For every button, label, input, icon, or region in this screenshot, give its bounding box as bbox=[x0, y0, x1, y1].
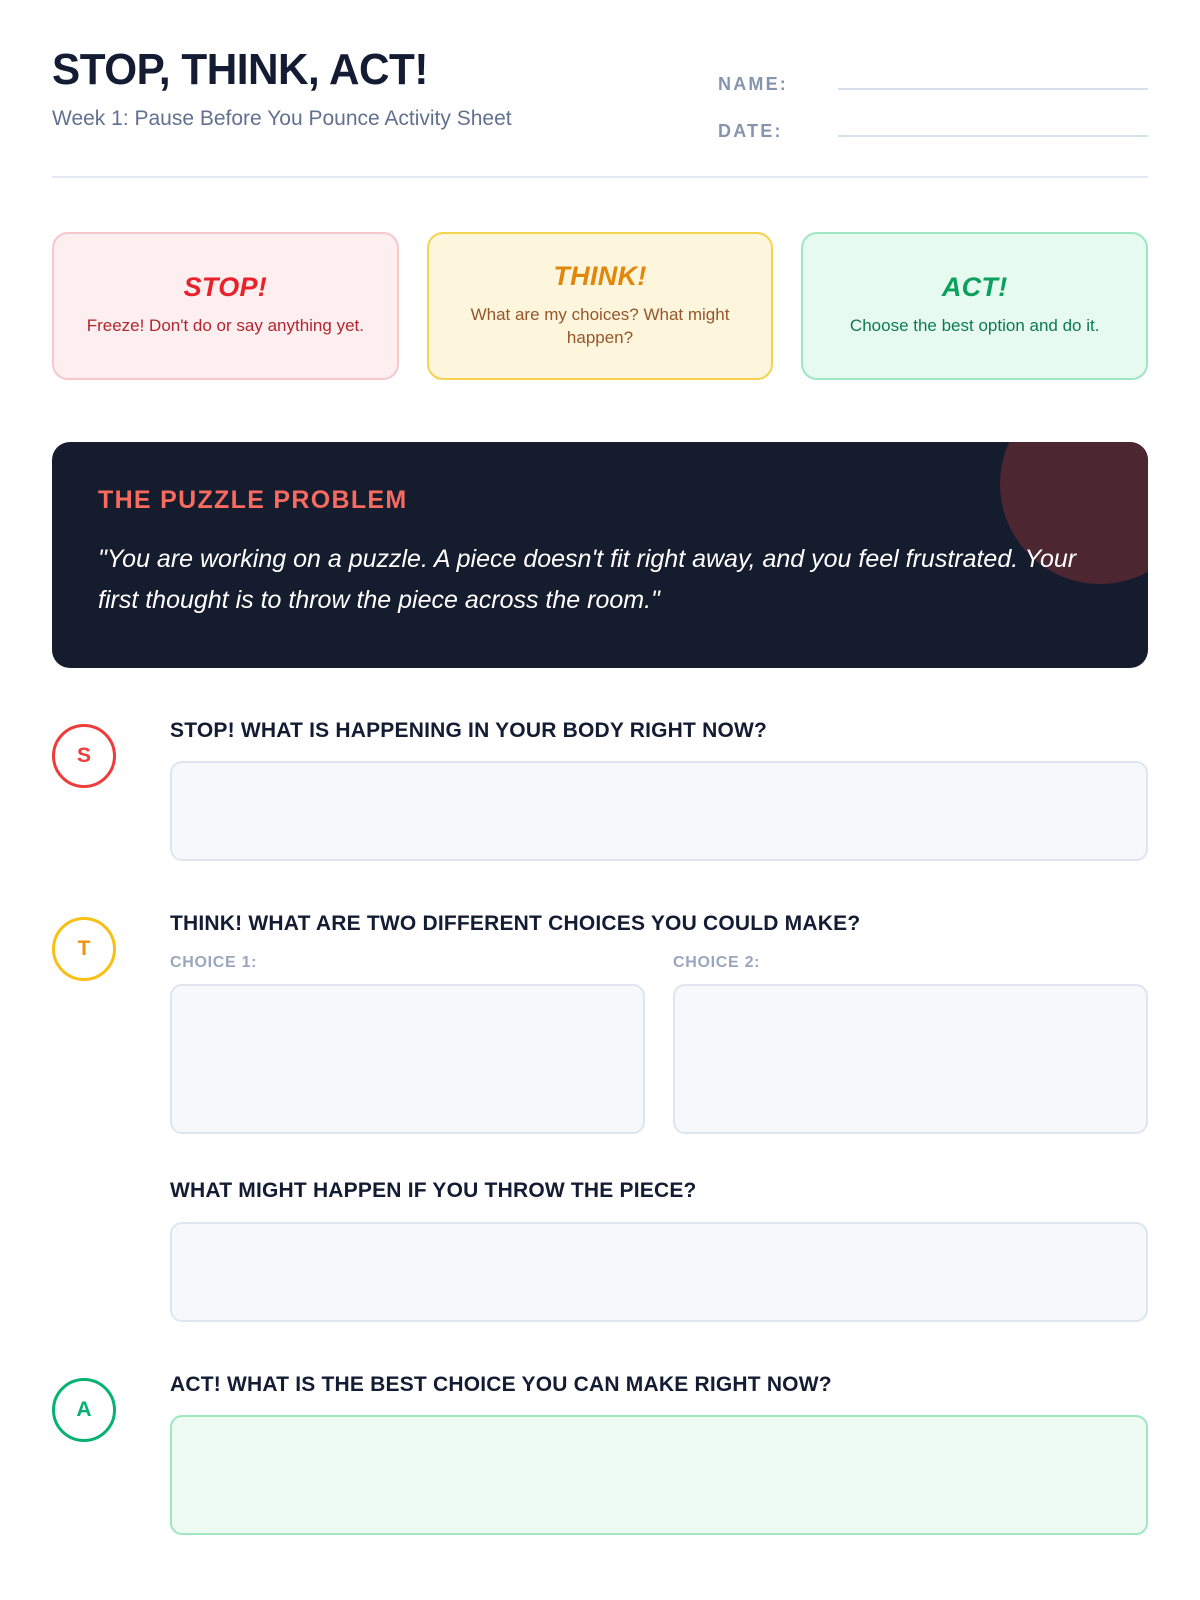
concept-card-act-text: Choose the best option and do it. bbox=[850, 315, 1100, 337]
worksheet-header: STOP, THINK, ACT! Week 1: Pause Before Y… bbox=[52, 0, 1148, 142]
step-act-answer-box[interactable] bbox=[170, 1415, 1148, 1535]
step-think-answer-box-2[interactable] bbox=[170, 1222, 1148, 1322]
concept-card-stop-text: Freeze! Don't do or say anything yet. bbox=[87, 315, 364, 337]
page-title: STOP, THINK, ACT! bbox=[52, 48, 493, 93]
step-act: A ACT! WHAT IS THE BEST CHOICE YOU CAN M… bbox=[52, 1372, 1148, 1535]
choice-2-answer-box[interactable] bbox=[673, 984, 1148, 1134]
step-think-prompt: THINK! WHAT ARE TWO DIFFERENT CHOICES YO… bbox=[170, 911, 1148, 936]
step-stop: S STOP! WHAT IS HAPPENING IN YOUR BODY R… bbox=[52, 718, 1148, 861]
concept-card-stop: STOP! Freeze! Don't do or say anything y… bbox=[52, 232, 399, 380]
choice-1-label: CHOICE 1: bbox=[170, 954, 645, 972]
choice-2-column: CHOICE 2: bbox=[673, 954, 1148, 1134]
concept-card-think-title: THINK! bbox=[553, 261, 646, 292]
choice-row: CHOICE 1: CHOICE 2: bbox=[170, 954, 1148, 1134]
concept-card-stop-title: STOP! bbox=[184, 272, 268, 303]
concept-card-think: THINK! What are my choices? What might h… bbox=[427, 232, 774, 380]
choice-1-column: CHOICE 1: bbox=[170, 954, 645, 1134]
step-badge-a: A bbox=[52, 1378, 116, 1442]
choice-2-label: CHOICE 2: bbox=[673, 954, 1148, 972]
name-input-line[interactable] bbox=[838, 70, 1148, 90]
concept-card-think-text: What are my choices? What might happen? bbox=[451, 304, 750, 349]
worksheet-page: STOP, THINK, ACT! Week 1: Pause Before Y… bbox=[0, 0, 1200, 1600]
scenario-panel: THE PUZZLE PROBLEM "You are working on a… bbox=[52, 442, 1148, 668]
date-label: DATE: bbox=[718, 121, 822, 142]
choice-1-answer-box[interactable] bbox=[170, 984, 645, 1134]
step-stop-body: STOP! WHAT IS HAPPENING IN YOUR BODY RIG… bbox=[170, 718, 1148, 861]
name-field-row[interactable]: NAME: bbox=[718, 70, 1148, 95]
step-badge-s: S bbox=[52, 724, 116, 788]
scenario-text: "You are working on a puzzle. A piece do… bbox=[98, 539, 1098, 620]
name-label: NAME: bbox=[718, 74, 822, 95]
scenario-heading: THE PUZZLE PROBLEM bbox=[98, 486, 1102, 515]
step-think-body: THINK! WHAT ARE TWO DIFFERENT CHOICES YO… bbox=[170, 911, 1148, 1321]
title-block: STOP, THINK, ACT! Week 1: Pause Before Y… bbox=[52, 48, 512, 131]
step-act-prompt: ACT! WHAT IS THE BEST CHOICE YOU CAN MAK… bbox=[170, 1372, 1148, 1397]
concept-card-act: ACT! Choose the best option and do it. bbox=[801, 232, 1148, 380]
step-think-prompt-2: WHAT MIGHT HAPPEN IF YOU THROW THE PIECE… bbox=[170, 1178, 1148, 1203]
step-act-body: ACT! WHAT IS THE BEST CHOICE YOU CAN MAK… bbox=[170, 1372, 1148, 1535]
header-divider bbox=[52, 176, 1148, 178]
step-stop-answer-box[interactable] bbox=[170, 761, 1148, 861]
page-subtitle: Week 1: Pause Before You Pounce Activity… bbox=[52, 106, 512, 131]
concept-card-act-title: ACT! bbox=[942, 272, 1008, 303]
student-meta-block: NAME: DATE: bbox=[718, 48, 1148, 142]
step-stop-prompt: STOP! WHAT IS HAPPENING IN YOUR BODY RIG… bbox=[170, 718, 1148, 743]
date-field-row[interactable]: DATE: bbox=[718, 117, 1148, 142]
step-badge-t: T bbox=[52, 917, 116, 981]
step-think: T THINK! WHAT ARE TWO DIFFERENT CHOICES … bbox=[52, 911, 1148, 1321]
concept-card-row: STOP! Freeze! Don't do or say anything y… bbox=[52, 232, 1148, 380]
date-input-line[interactable] bbox=[838, 117, 1148, 137]
